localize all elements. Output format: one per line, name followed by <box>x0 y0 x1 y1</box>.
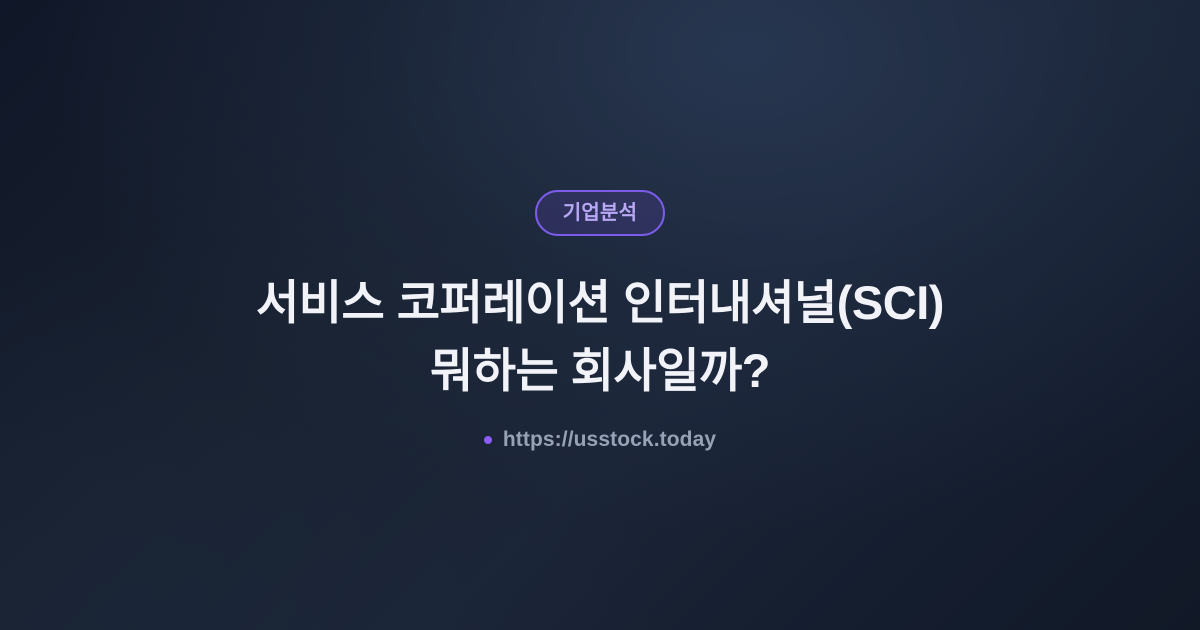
page-title: 서비스 코퍼레이션 인터내셔널(SCI) 뭐하는 회사일까? <box>256 269 944 405</box>
og-share-card: 기업분석 서비스 코퍼레이션 인터내셔널(SCI) 뭐하는 회사일까? http… <box>0 0 1200 630</box>
site-url-text: https://usstock.today <box>503 429 716 450</box>
category-badge-label: 기업분석 <box>563 203 637 223</box>
page-title-line-2: 뭐하는 회사일까? <box>256 337 944 405</box>
site-url-row: https://usstock.today <box>484 429 716 450</box>
bullet-dot-icon <box>484 436 492 444</box>
page-title-line-1: 서비스 코퍼레이션 인터내셔널(SCI) <box>256 269 944 337</box>
card-content: 기업분석 서비스 코퍼레이션 인터내셔널(SCI) 뭐하는 회사일까? http… <box>0 190 1200 450</box>
category-badge: 기업분석 <box>535 190 665 236</box>
